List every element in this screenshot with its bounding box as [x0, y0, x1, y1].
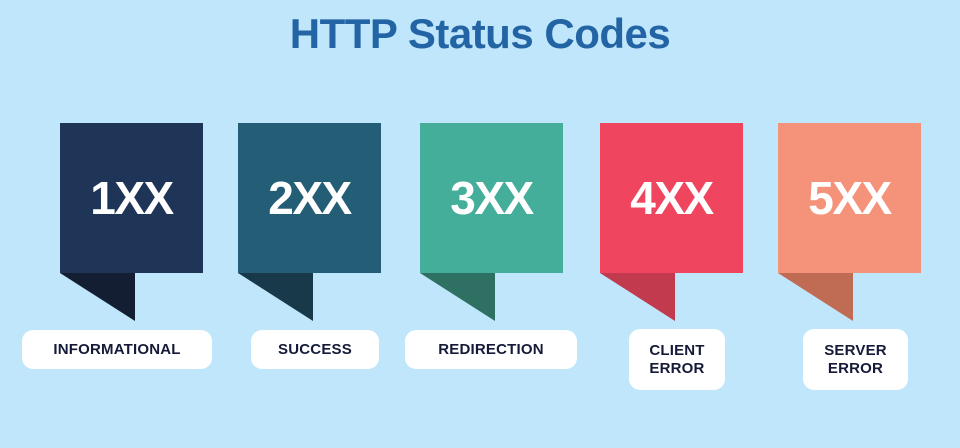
status-code-text: 2XX: [268, 175, 350, 221]
status-code-text: 4XX: [630, 175, 712, 221]
http-status-codes-infographic: HTTP Status Codes 1XX2XX3XX4XX5XX INFORM…: [0, 0, 960, 448]
status-code-text: 1XX: [90, 175, 172, 221]
status-card-body: 4XX: [600, 123, 743, 273]
page-title: HTTP Status Codes: [0, 10, 960, 58]
speech-bubble-tail-icon: [778, 273, 853, 321]
status-card-2xx: 2XX: [238, 123, 381, 273]
status-card-1xx: 1XX: [60, 123, 203, 273]
speech-bubble-tail-icon: [238, 273, 313, 321]
status-category-label-3xx: REDIRECTION: [405, 330, 577, 369]
status-category-label-5xx: SERVER ERROR: [803, 329, 908, 390]
status-card-5xx: 5XX: [778, 123, 921, 273]
status-category-label-2xx: SUCCESS: [251, 330, 379, 369]
status-card-3xx: 3XX: [420, 123, 563, 273]
status-card-body: 2XX: [238, 123, 381, 273]
status-card-body: 5XX: [778, 123, 921, 273]
status-card-body: 3XX: [420, 123, 563, 273]
speech-bubble-tail-icon: [420, 273, 495, 321]
status-category-label-4xx: CLIENT ERROR: [629, 329, 725, 390]
speech-bubble-tail-icon: [60, 273, 135, 321]
status-category-label-1xx: INFORMATIONAL: [22, 330, 212, 369]
status-card-body: 1XX: [60, 123, 203, 273]
status-code-text: 5XX: [808, 175, 890, 221]
status-card-4xx: 4XX: [600, 123, 743, 273]
status-code-text: 3XX: [450, 175, 532, 221]
speech-bubble-tail-icon: [600, 273, 675, 321]
